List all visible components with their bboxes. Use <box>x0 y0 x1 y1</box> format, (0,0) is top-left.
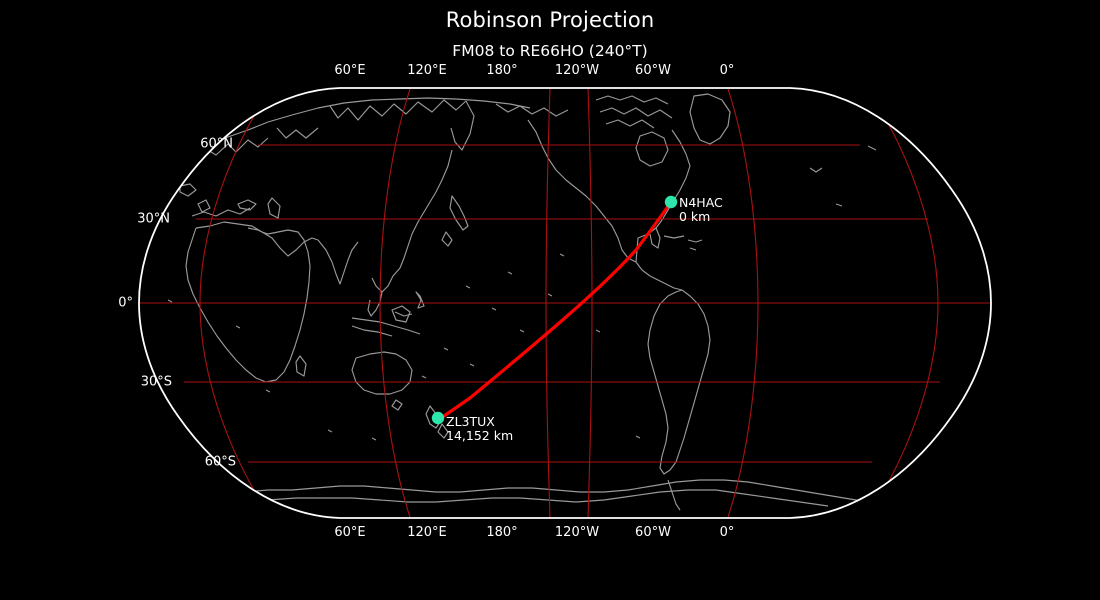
lon-tick-top-180: 180° <box>486 63 517 78</box>
destination-distance: 14,152 km <box>446 429 513 443</box>
lon-tick-bottom-60e: 60°E <box>334 525 365 540</box>
origin-callsign: N4HAC <box>679 196 723 210</box>
lon-tick-bottom-120w: 120°W <box>555 525 599 540</box>
destination-callsign: ZL3TUX <box>446 415 513 429</box>
annotation-destination: ZL3TUX 14,152 km <box>446 415 513 443</box>
annotation-origin: N4HAC 0 km <box>679 196 723 224</box>
lat-tick-60s: 60°S <box>176 455 236 470</box>
world-map <box>0 0 1100 600</box>
marker-destination[interactable] <box>432 412 444 424</box>
lon-tick-top-120e: 120°E <box>407 63 447 78</box>
map-interior <box>139 88 991 518</box>
lon-tick-bottom-60w: 60°W <box>635 525 671 540</box>
lat-tick-0: 0° <box>78 296 133 311</box>
origin-distance: 0 km <box>679 210 723 224</box>
lon-tick-top-120w: 120°W <box>555 63 599 78</box>
lat-tick-60n: 60°N <box>173 137 233 152</box>
marker-origin[interactable] <box>665 196 677 208</box>
lon-tick-bottom-120e: 120°E <box>407 525 447 540</box>
lat-tick-30n: 30°N <box>110 212 170 227</box>
robinson-projection-figure: Robinson Projection FM08 to RE66HO (240°… <box>0 0 1100 600</box>
lon-tick-bottom-180: 180° <box>486 525 517 540</box>
lon-tick-top-60e: 60°E <box>334 63 365 78</box>
lat-tick-30s: 30°S <box>112 375 172 390</box>
lon-tick-top-60w: 60°W <box>635 63 671 78</box>
lon-tick-bottom-0: 0° <box>720 525 735 540</box>
lon-tick-top-0: 0° <box>720 63 735 78</box>
